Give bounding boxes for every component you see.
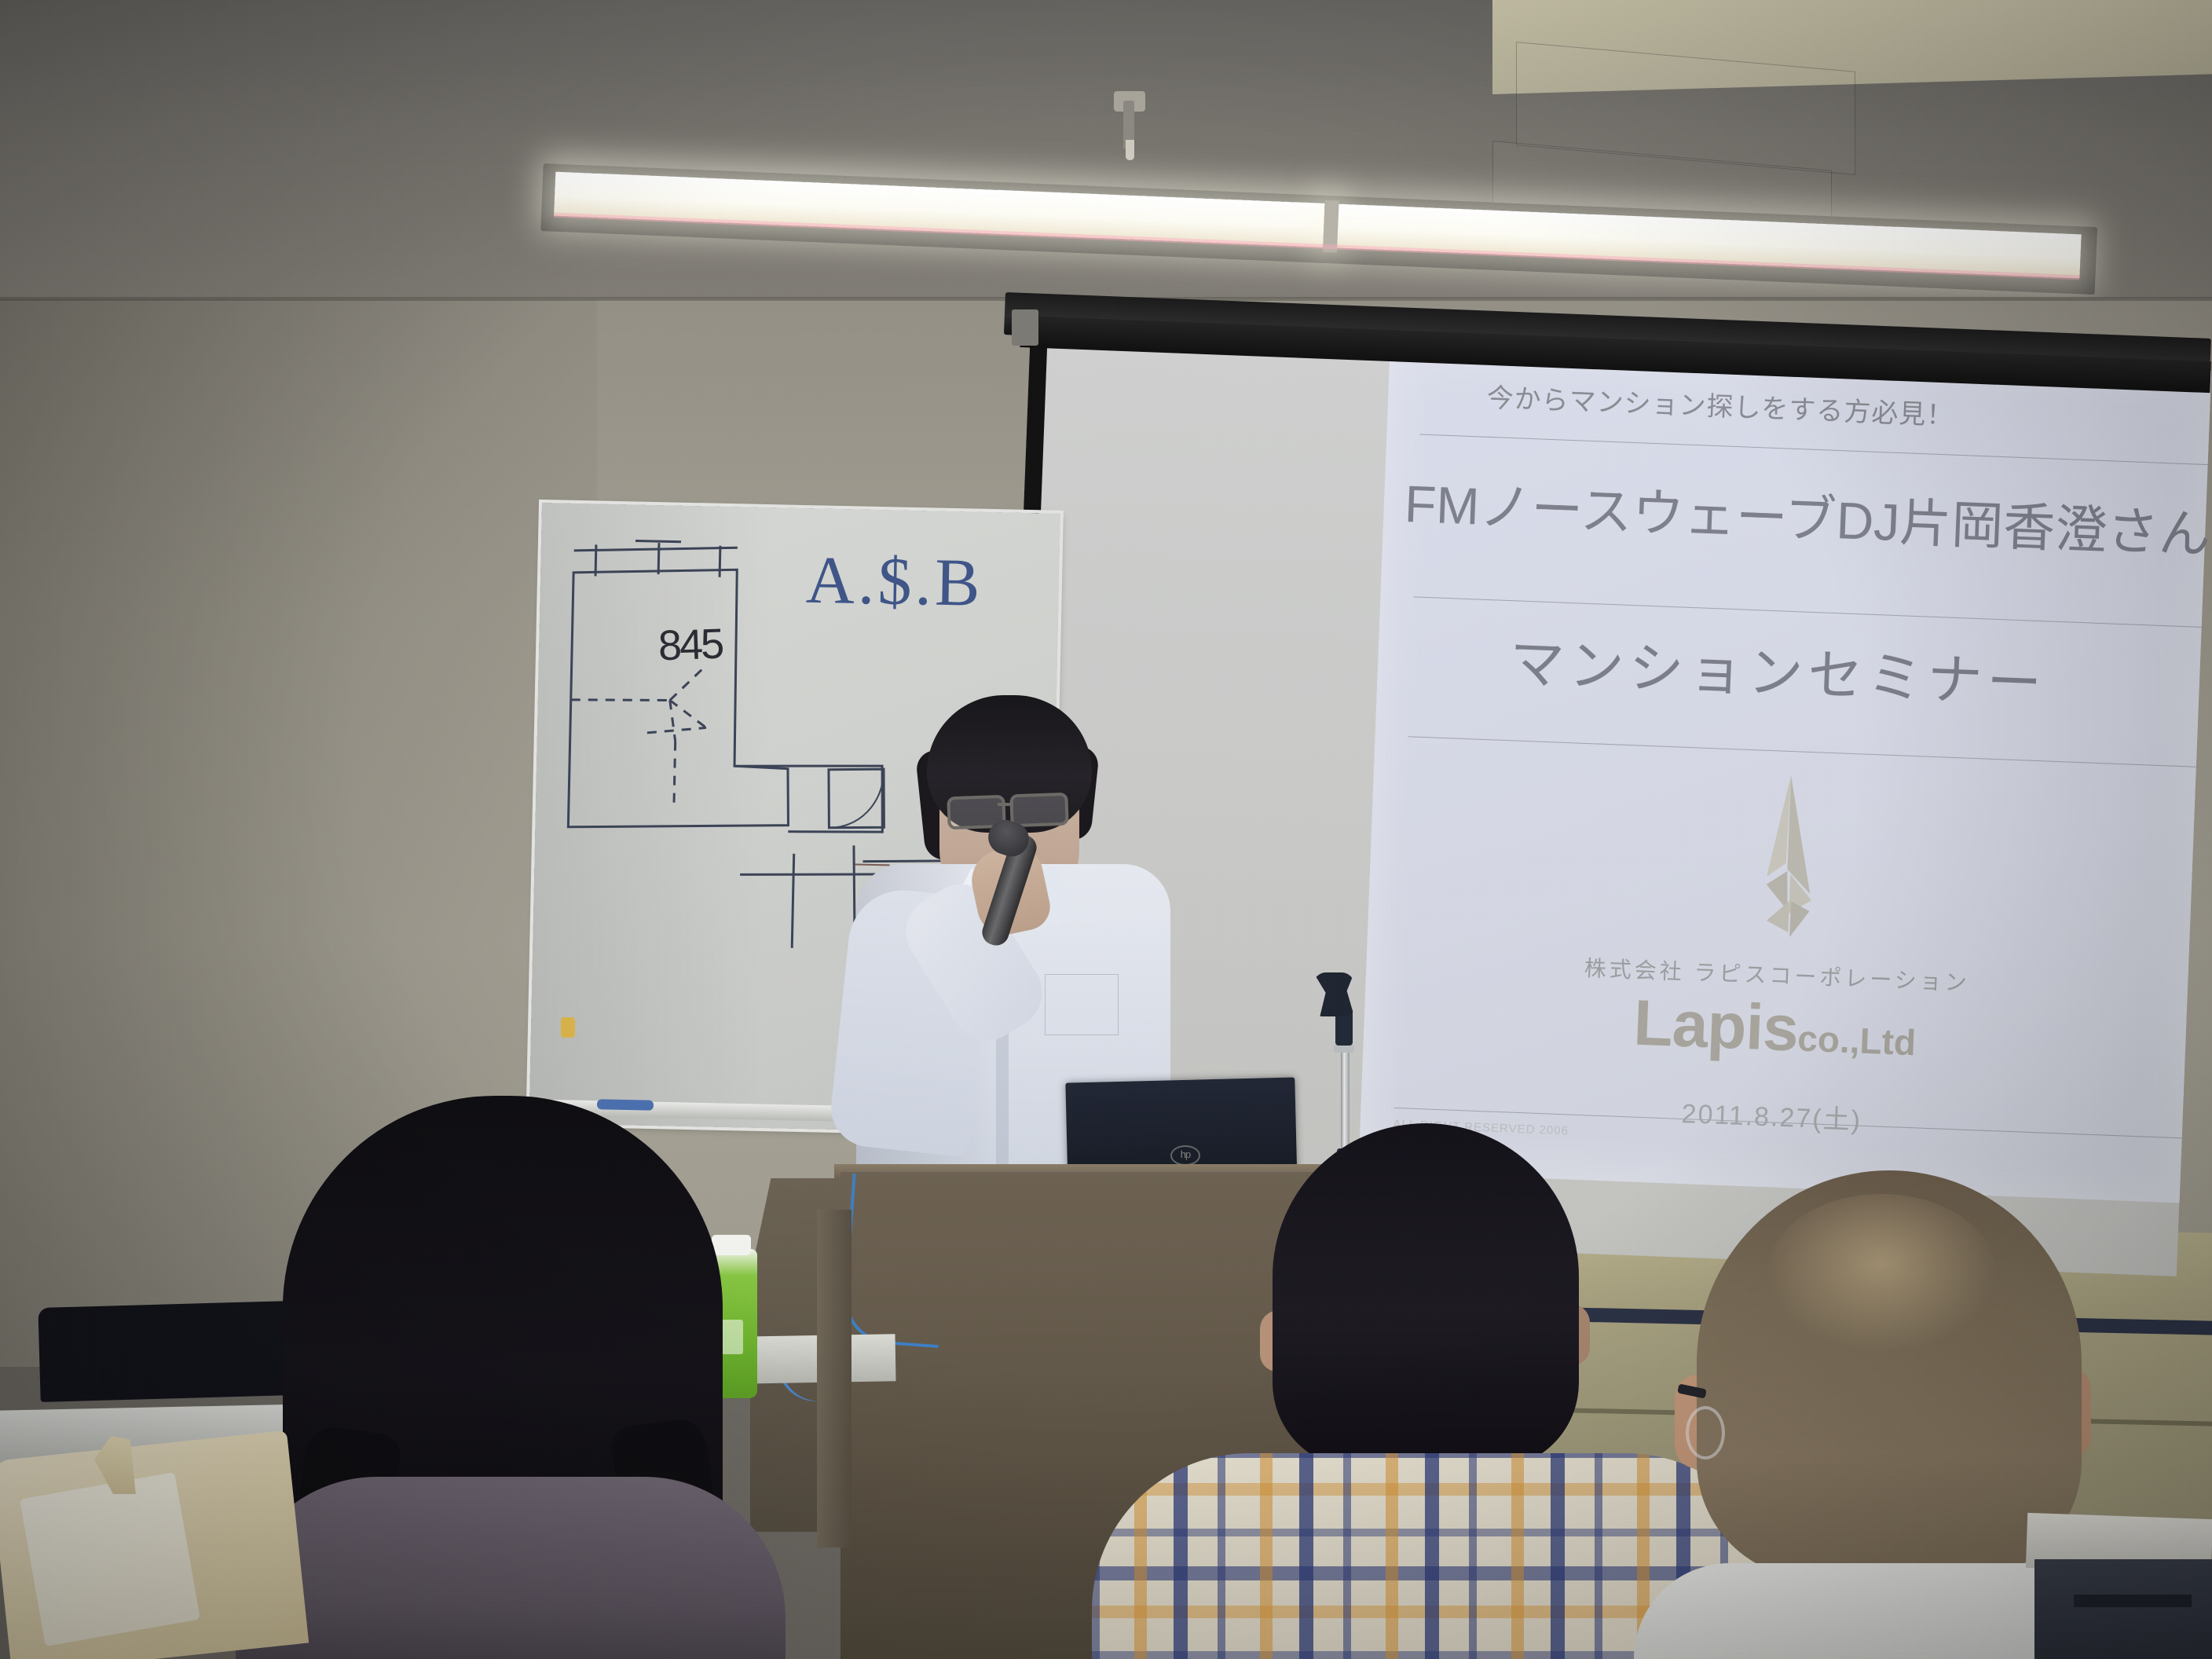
company-suffix: co.,Ltd: [1796, 1017, 1917, 1063]
slide-title-line-2: マンションセミナー: [1377, 614, 2212, 731]
eyeglasses-bridge: [998, 803, 1013, 806]
whiteboard-marker: [597, 1099, 654, 1111]
bottle-label: [721, 1320, 743, 1354]
eyeglasses-icon: [1009, 793, 1068, 828]
chair-back: [2034, 1559, 2212, 1659]
slide-title-line-1: FMノースウェーブDJ片岡香澄さんと一緒: [1382, 461, 2212, 569]
whiteboard-letters: A.$.B: [805, 540, 1011, 623]
lapis-logo-icon: [1740, 774, 1833, 962]
paper-sheet: [20, 1472, 200, 1646]
chair-back-slot: [2074, 1595, 2192, 1607]
shirt-pocket: [1045, 974, 1119, 1035]
attendee-center-hair: [1273, 1123, 1579, 1469]
screen-mounting-bracket: [1012, 309, 1038, 346]
eyeglasses-icon: [1686, 1406, 1725, 1459]
slide-divider: [1419, 434, 2207, 465]
attendee-left-body: [236, 1477, 786, 1659]
hp-logo-icon: hp: [1170, 1145, 1200, 1166]
slide-divider: [1408, 736, 2196, 767]
whiteboard-number: 845: [657, 620, 723, 671]
attendee-right-scalp: [1767, 1194, 1995, 1351]
chair-back: [38, 1300, 323, 1402]
projected-slide: 今からマンション探しをする方必見！ FMノースウェーブDJ片岡香澄さんと一緒 マ…: [1358, 339, 2211, 1203]
bottle-cap: [712, 1235, 751, 1255]
seminar-room-photo: 今からマンション探しをする方必見！ FMノースウェーブDJ片岡香澄さんと一緒 マ…: [0, 0, 2212, 1659]
sprinkler-deflector: [1126, 140, 1134, 160]
company-name: Lapis: [1632, 987, 1800, 1064]
microphone-stand-collar: [1334, 1045, 1354, 1053]
slide-content: 今からマンション探しをする方必見！ FMノースウェーブDJ片岡香澄さんと一緒 マ…: [1358, 339, 2211, 1203]
desk-divider-panel: [817, 1210, 851, 1547]
whiteboard-magnet: [561, 1017, 575, 1038]
